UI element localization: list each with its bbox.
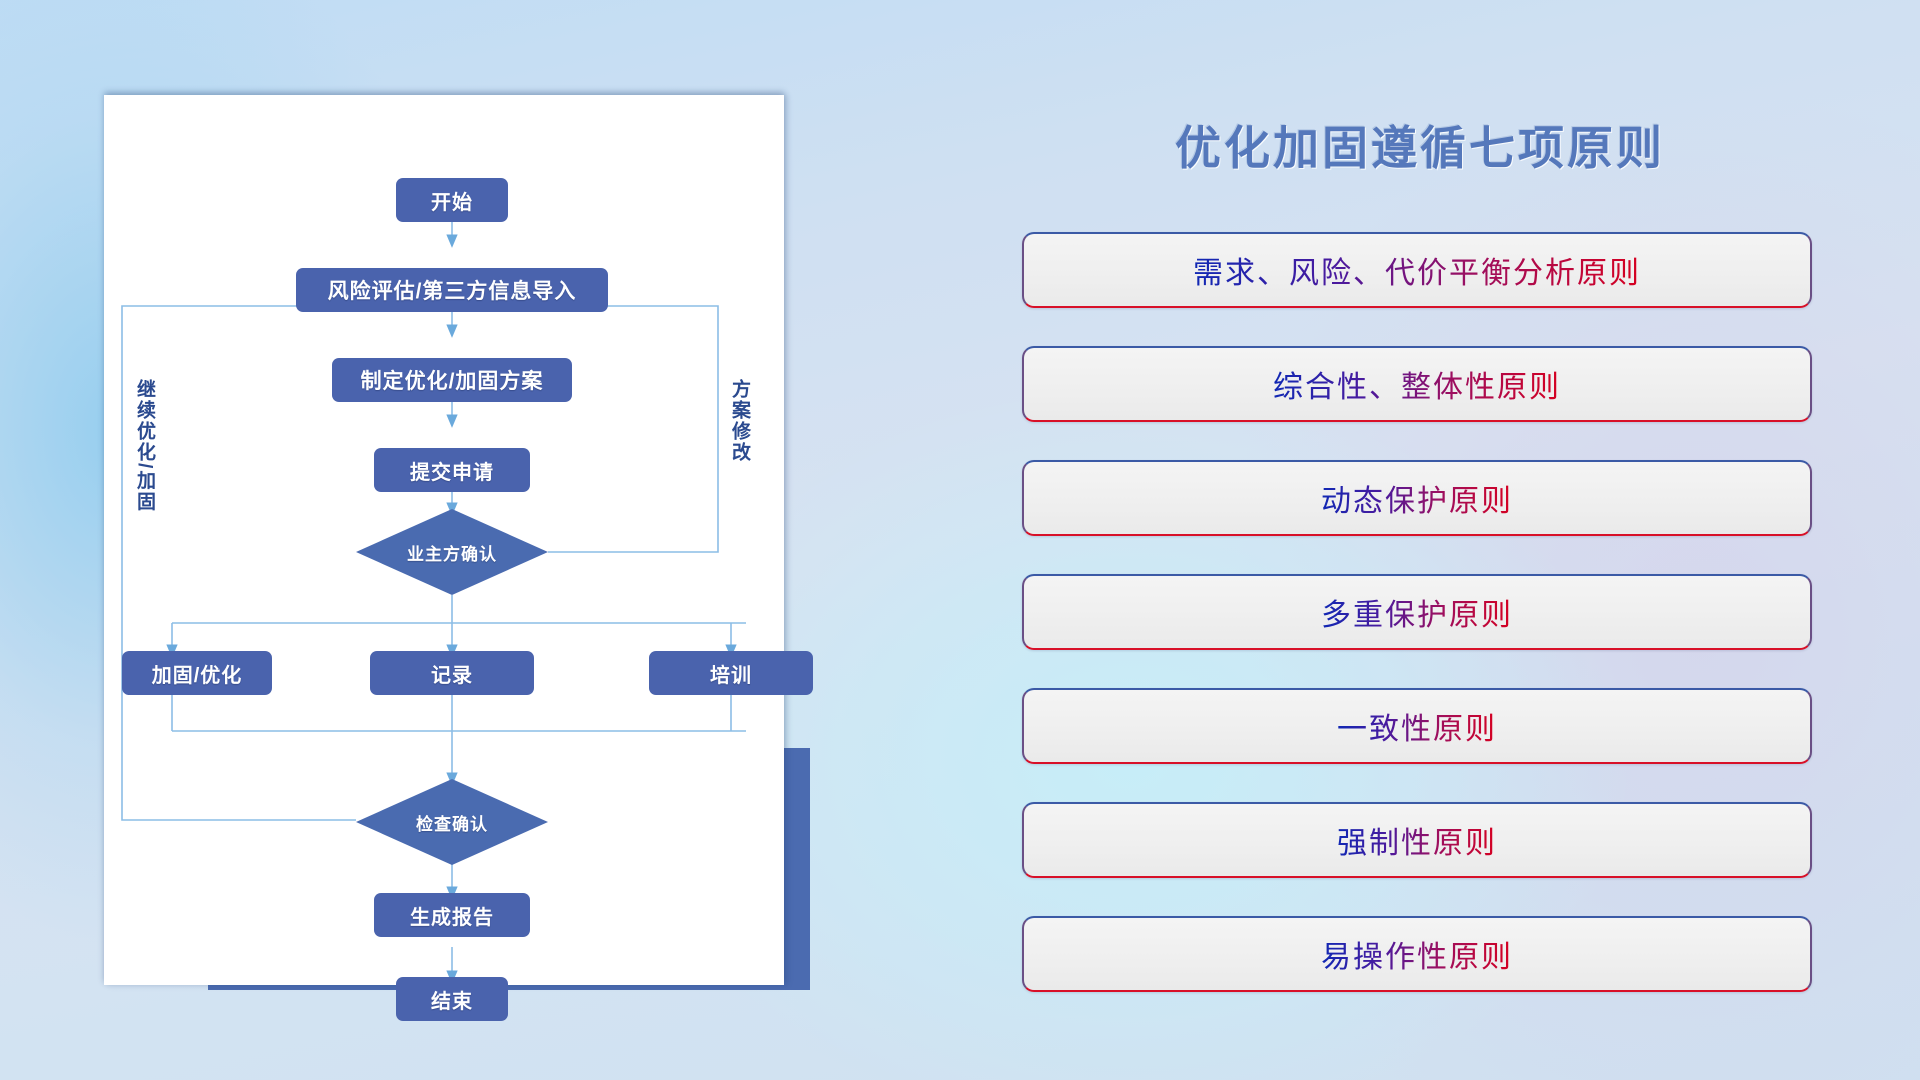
principle-item[interactable]: 强制性原则 bbox=[1022, 802, 1812, 878]
flow-node-risk-assessment[interactable]: 风险评估/第三方信息导入 bbox=[296, 268, 608, 312]
flow-node-label: 业主方确认 bbox=[407, 540, 497, 565]
flow-node-start[interactable]: 开始 bbox=[396, 178, 508, 222]
flow-node-label: 培训 bbox=[710, 659, 752, 688]
flow-node-generate-report[interactable]: 生成报告 bbox=[374, 893, 530, 937]
flow-node-label: 加固/优化 bbox=[152, 659, 243, 688]
flow-node-reinforce[interactable]: 加固/优化 bbox=[122, 651, 272, 695]
edge-label-continue-optimize: 继续优化/加固 bbox=[134, 379, 154, 512]
edge-label-plan-revision: 方案修改 bbox=[729, 379, 749, 463]
principle-item[interactable]: 易操作性原则 bbox=[1022, 916, 1812, 992]
principle-list: 需求、风险、代价平衡分析原则 综合性、整体性原则 动态保护原则 多重保护原则 一… bbox=[1022, 232, 1812, 1030]
principle-label: 易操作性原则 bbox=[1321, 932, 1513, 976]
flow-node-end[interactable]: 结束 bbox=[396, 977, 508, 1021]
flow-node-label: 检查确认 bbox=[416, 810, 488, 835]
principle-item[interactable]: 动态保护原则 bbox=[1022, 460, 1812, 536]
flow-node-submit-application[interactable]: 提交申请 bbox=[374, 448, 530, 492]
flow-node-label: 生成报告 bbox=[410, 901, 494, 930]
principle-label: 综合性、整体性原则 bbox=[1273, 362, 1561, 406]
flow-node-label: 提交申请 bbox=[410, 456, 494, 485]
principle-label: 强制性原则 bbox=[1337, 818, 1497, 862]
slide-canvas: 开始 风险评估/第三方信息导入 制定优化/加固方案 提交申请 业主方确认 加固/… bbox=[0, 0, 1920, 1080]
principle-item[interactable]: 一致性原则 bbox=[1022, 688, 1812, 764]
flow-node-label: 制定优化/加固方案 bbox=[361, 365, 544, 395]
principle-label: 动态保护原则 bbox=[1321, 476, 1513, 520]
flow-node-training[interactable]: 培训 bbox=[649, 651, 813, 695]
principle-label: 需求、风险、代价平衡分析原则 bbox=[1193, 248, 1641, 292]
flow-node-label: 记录 bbox=[431, 659, 473, 688]
page-title: 优化加固遵循七项原则 bbox=[1020, 112, 1820, 178]
flow-node-check-confirm[interactable]: 检查确认 bbox=[356, 779, 548, 865]
principle-item[interactable]: 需求、风险、代价平衡分析原则 bbox=[1022, 232, 1812, 308]
flow-node-label: 结束 bbox=[431, 985, 473, 1014]
flow-node-record[interactable]: 记录 bbox=[370, 651, 534, 695]
flow-node-plan[interactable]: 制定优化/加固方案 bbox=[332, 358, 572, 402]
flowchart-card: 开始 风险评估/第三方信息导入 制定优化/加固方案 提交申请 业主方确认 加固/… bbox=[104, 95, 784, 985]
flow-node-label: 风险评估/第三方信息导入 bbox=[328, 275, 577, 305]
principle-label: 多重保护原则 bbox=[1321, 590, 1513, 634]
flow-node-label: 开始 bbox=[431, 186, 473, 215]
principle-item[interactable]: 综合性、整体性原则 bbox=[1022, 346, 1812, 422]
flow-node-owner-confirm[interactable]: 业主方确认 bbox=[356, 509, 548, 595]
principle-item[interactable]: 多重保护原则 bbox=[1022, 574, 1812, 650]
principle-label: 一致性原则 bbox=[1337, 704, 1497, 748]
